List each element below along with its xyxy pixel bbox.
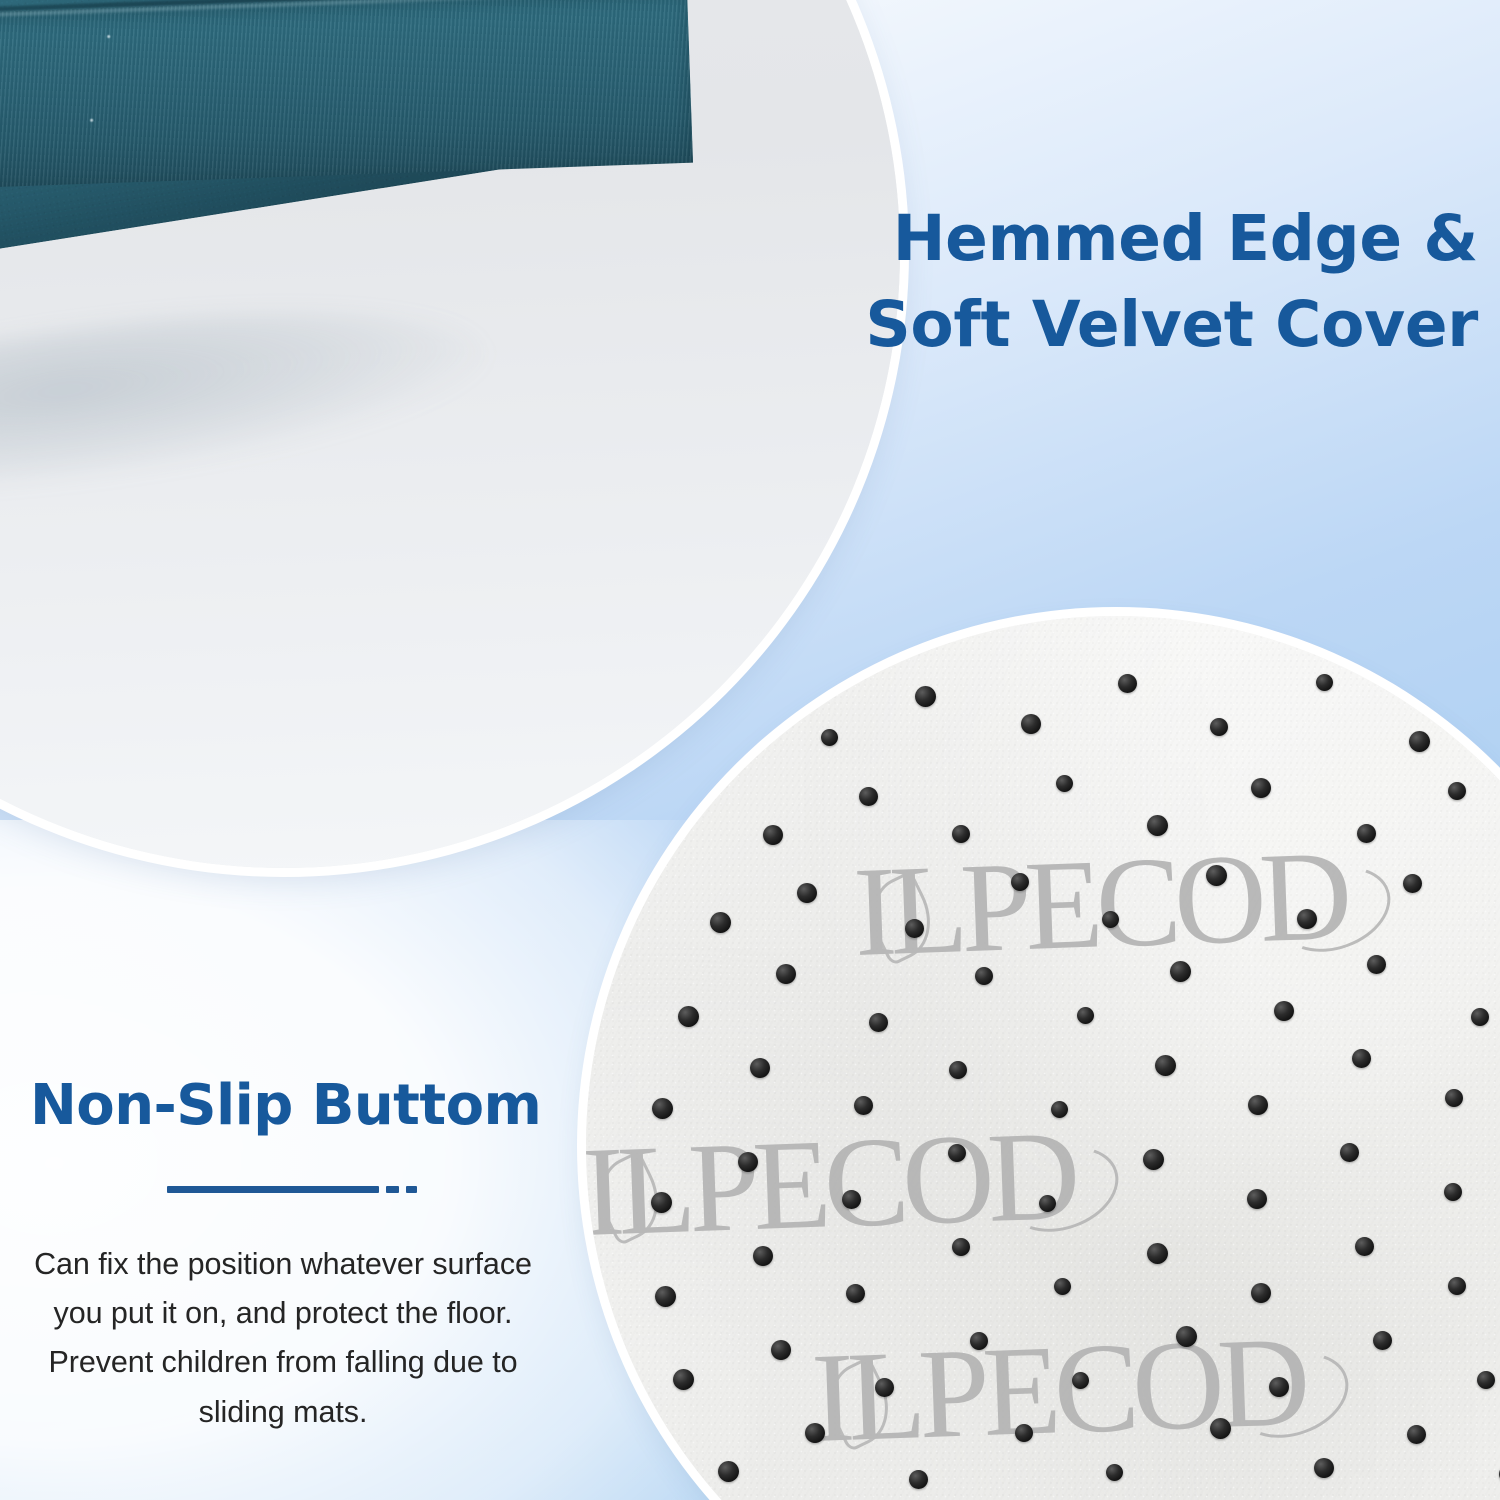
grip-dot — [797, 883, 817, 903]
grip-dot — [1248, 1095, 1268, 1115]
grip-dot — [1403, 874, 1422, 893]
grip-dot — [718, 1461, 739, 1482]
divider-bar — [167, 1186, 379, 1193]
grip-dot — [1444, 1183, 1462, 1201]
hem-rib-texture — [0, 0, 693, 205]
grip-dot — [875, 1378, 894, 1397]
grip-dot — [869, 1013, 888, 1032]
grip-dot — [805, 1423, 825, 1443]
grip-dot — [1118, 674, 1137, 693]
grip-dot — [678, 1006, 699, 1027]
grip-dot — [975, 967, 993, 985]
grip-dot — [1314, 1458, 1334, 1478]
grip-dot — [948, 1144, 966, 1162]
felt-backing-surface: ILPECODILPECODILPECOD — [586, 616, 1500, 1500]
grip-dot — [854, 1096, 873, 1115]
grip-dot — [1477, 1371, 1495, 1389]
grip-dot — [1077, 1007, 1094, 1024]
grip-dot — [1147, 1243, 1168, 1264]
grip-dot — [1021, 714, 1041, 734]
grip-dot — [1143, 1149, 1164, 1170]
grip-dot — [970, 1332, 988, 1350]
grip-dot — [1247, 1189, 1267, 1209]
grip-dot — [753, 1246, 773, 1266]
grip-dot — [821, 729, 838, 746]
grip-dot — [1176, 1326, 1197, 1347]
grip-dot — [1340, 1143, 1359, 1162]
grip-dot — [859, 787, 878, 806]
brand-wordmark: ILPECOD — [852, 831, 1347, 976]
grip-dot — [1054, 1278, 1071, 1295]
grip-dot — [1448, 1277, 1466, 1295]
grip-dot — [710, 912, 731, 933]
grip-dot — [1357, 824, 1376, 843]
grip-dot — [915, 686, 936, 707]
grip-dot — [652, 1098, 673, 1119]
grip-dot — [776, 964, 796, 984]
grip-dot — [952, 825, 970, 843]
grip-dot — [1106, 1464, 1123, 1481]
grip-dot — [1170, 961, 1191, 982]
brand-wordmark: ILPECOD — [586, 1111, 1075, 1256]
non-slip-body-line-2: you put it on, and protect the floor. — [24, 1289, 542, 1338]
grip-dot — [1409, 731, 1430, 752]
grip-dot — [771, 1340, 791, 1360]
brand-wordmark-text: ILPECOD — [586, 1111, 1075, 1256]
grip-dot — [1251, 1283, 1271, 1303]
grip-dot — [1352, 1049, 1371, 1068]
divider-dash-1 — [386, 1186, 399, 1193]
grip-dot — [1147, 815, 1168, 836]
non-slip-body-line-3: Prevent children from falling due to — [24, 1338, 542, 1387]
grip-dot — [842, 1190, 861, 1209]
grip-dot — [1274, 1001, 1294, 1021]
non-slip-body-line-1: Can fix the position whatever surface — [24, 1240, 542, 1289]
grip-dot — [1445, 1089, 1463, 1107]
grip-dot — [949, 1061, 967, 1079]
grip-dot — [750, 1058, 770, 1078]
grip-dot — [846, 1284, 865, 1303]
grip-dot — [1210, 1418, 1231, 1439]
grip-dot — [1206, 865, 1227, 886]
grip-dot — [1011, 873, 1029, 891]
grip-dot — [1155, 1055, 1176, 1076]
grip-dot — [1072, 1372, 1089, 1389]
grip-dot — [1355, 1237, 1374, 1256]
grip-dot — [1367, 955, 1386, 974]
infographic-canvas: ILPECODILPECODILPECOD Hemmed Edge & Soft… — [0, 0, 1500, 1500]
grip-dot — [1297, 909, 1317, 929]
grip-dot — [1051, 1101, 1068, 1118]
non-slip-body-text: Can fix the position whatever surface yo… — [0, 1240, 566, 1438]
non-slip-photo-circle: ILPECODILPECODILPECOD — [586, 616, 1500, 1500]
section-divider — [0, 1186, 566, 1193]
grip-dot — [763, 825, 783, 845]
grip-dot — [655, 1286, 676, 1307]
non-slip-body-line-4: sliding mats. — [24, 1388, 542, 1437]
non-slip-text-block: Non-Slip Buttom Can fix the position wha… — [0, 1075, 566, 1437]
grip-dot — [1448, 782, 1466, 800]
divider-dash-2 — [406, 1186, 417, 1193]
grip-dot — [1407, 1425, 1426, 1444]
grip-dot — [651, 1192, 672, 1213]
grip-dot — [1039, 1195, 1056, 1212]
velvet-cushion — [0, 0, 681, 546]
grip-dot — [1316, 674, 1333, 691]
non-slip-heading: Non-Slip Buttom — [0, 1075, 566, 1137]
hemmed-edge-band — [0, 0, 693, 205]
grip-dot — [1210, 718, 1228, 736]
hemmed-edge-heading: Hemmed Edge & Soft Velvet Cover — [758, 196, 1478, 367]
grip-dot — [1102, 911, 1119, 928]
grip-dot — [1251, 778, 1271, 798]
grip-dot — [1373, 1331, 1392, 1350]
grip-dot — [909, 1470, 928, 1489]
grip-dot — [1471, 1008, 1489, 1026]
grip-dot — [673, 1369, 694, 1390]
grip-dot — [952, 1238, 970, 1256]
grip-dot — [905, 919, 924, 938]
grip-dot — [1015, 1424, 1033, 1442]
hemmed-edge-heading-line-2: Soft Velvet Cover — [758, 282, 1478, 368]
grip-dot — [1269, 1377, 1289, 1397]
grip-dot — [738, 1152, 758, 1172]
hemmed-edge-heading-line-1: Hemmed Edge & — [758, 196, 1478, 282]
grip-dot — [1056, 775, 1073, 792]
